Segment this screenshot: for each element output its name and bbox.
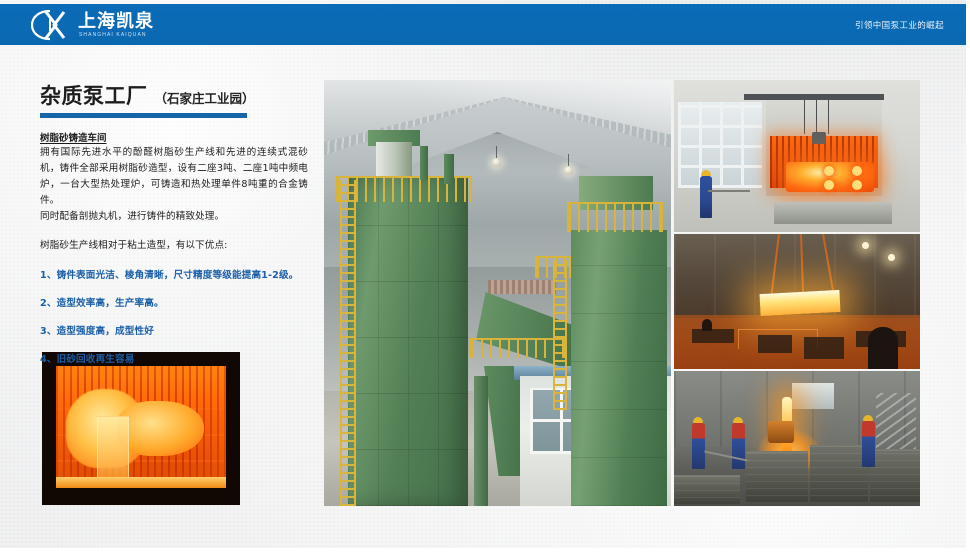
slide-header-bar: 上海凯泉 SHANGHAI KAIQUAN 引领中国泵工业的崛起 xyxy=(0,4,966,45)
photo-furnace-interior-glow xyxy=(42,352,240,505)
page-title-sub: （石家庄工业园） xyxy=(155,88,255,107)
brand-name-cn: 上海凯泉 xyxy=(78,12,154,31)
title-underline-rule xyxy=(40,113,247,118)
slide-right-margin xyxy=(966,0,970,552)
page-title-main: 杂质泵工厂 xyxy=(40,84,148,108)
presentation-slide: 上海凯泉 SHANGHAI KAIQUAN 引领中国泵工业的崛起 杂质泵工厂 （… xyxy=(0,0,970,552)
photo-crane-lifting-hot-casting xyxy=(674,234,920,369)
slide-bottom-margin xyxy=(0,548,970,552)
advantage-item-2: 2、造型效率高，生产率高。 xyxy=(40,296,308,311)
section-heading: 树脂砂铸造车间 xyxy=(40,132,308,145)
advantage-item-1: 1、铸件表面光洁、棱角清晰，尺寸精度等级能提高1-2级。 xyxy=(40,268,308,283)
body-paragraph-2: 同时配备剖抛丸机，进行铸件的精致处理。 xyxy=(40,209,308,225)
kaiquan-logo-icon xyxy=(30,9,72,41)
page-title: 杂质泵工厂 （石家庄工业园） xyxy=(40,84,308,108)
photo-resin-sand-plant xyxy=(324,80,671,506)
advantage-item-3: 3、造型强度高，成型性好 xyxy=(40,324,308,339)
brand-name-en: SHANGHAI KAIQUAN xyxy=(79,32,154,39)
header-tagline: 引领中国泵工业的崛起 xyxy=(855,4,944,45)
body-paragraph-3: 树脂砂生产线相对于粘土造型，有以下优点: xyxy=(40,238,308,254)
body-paragraph-1: 拥有国际先进水平的酚醛树脂砂生产线和先进的连续式混砂机，铸件全部采用树脂砂造型，… xyxy=(40,145,308,209)
photo-molten-metal-pouring xyxy=(674,371,920,506)
slide-text-column: 杂质泵工厂 （石家庄工业园） 树脂砂铸造车间 拥有国际先进水平的酚醛树脂砂生产线… xyxy=(40,84,308,367)
photo-heat-treatment-furnace xyxy=(674,80,920,232)
advantage-item-4: 4、旧砂回收再生容易 xyxy=(40,352,308,367)
brand-logo[interactable]: 上海凯泉 SHANGHAI KAIQUAN xyxy=(30,8,154,42)
